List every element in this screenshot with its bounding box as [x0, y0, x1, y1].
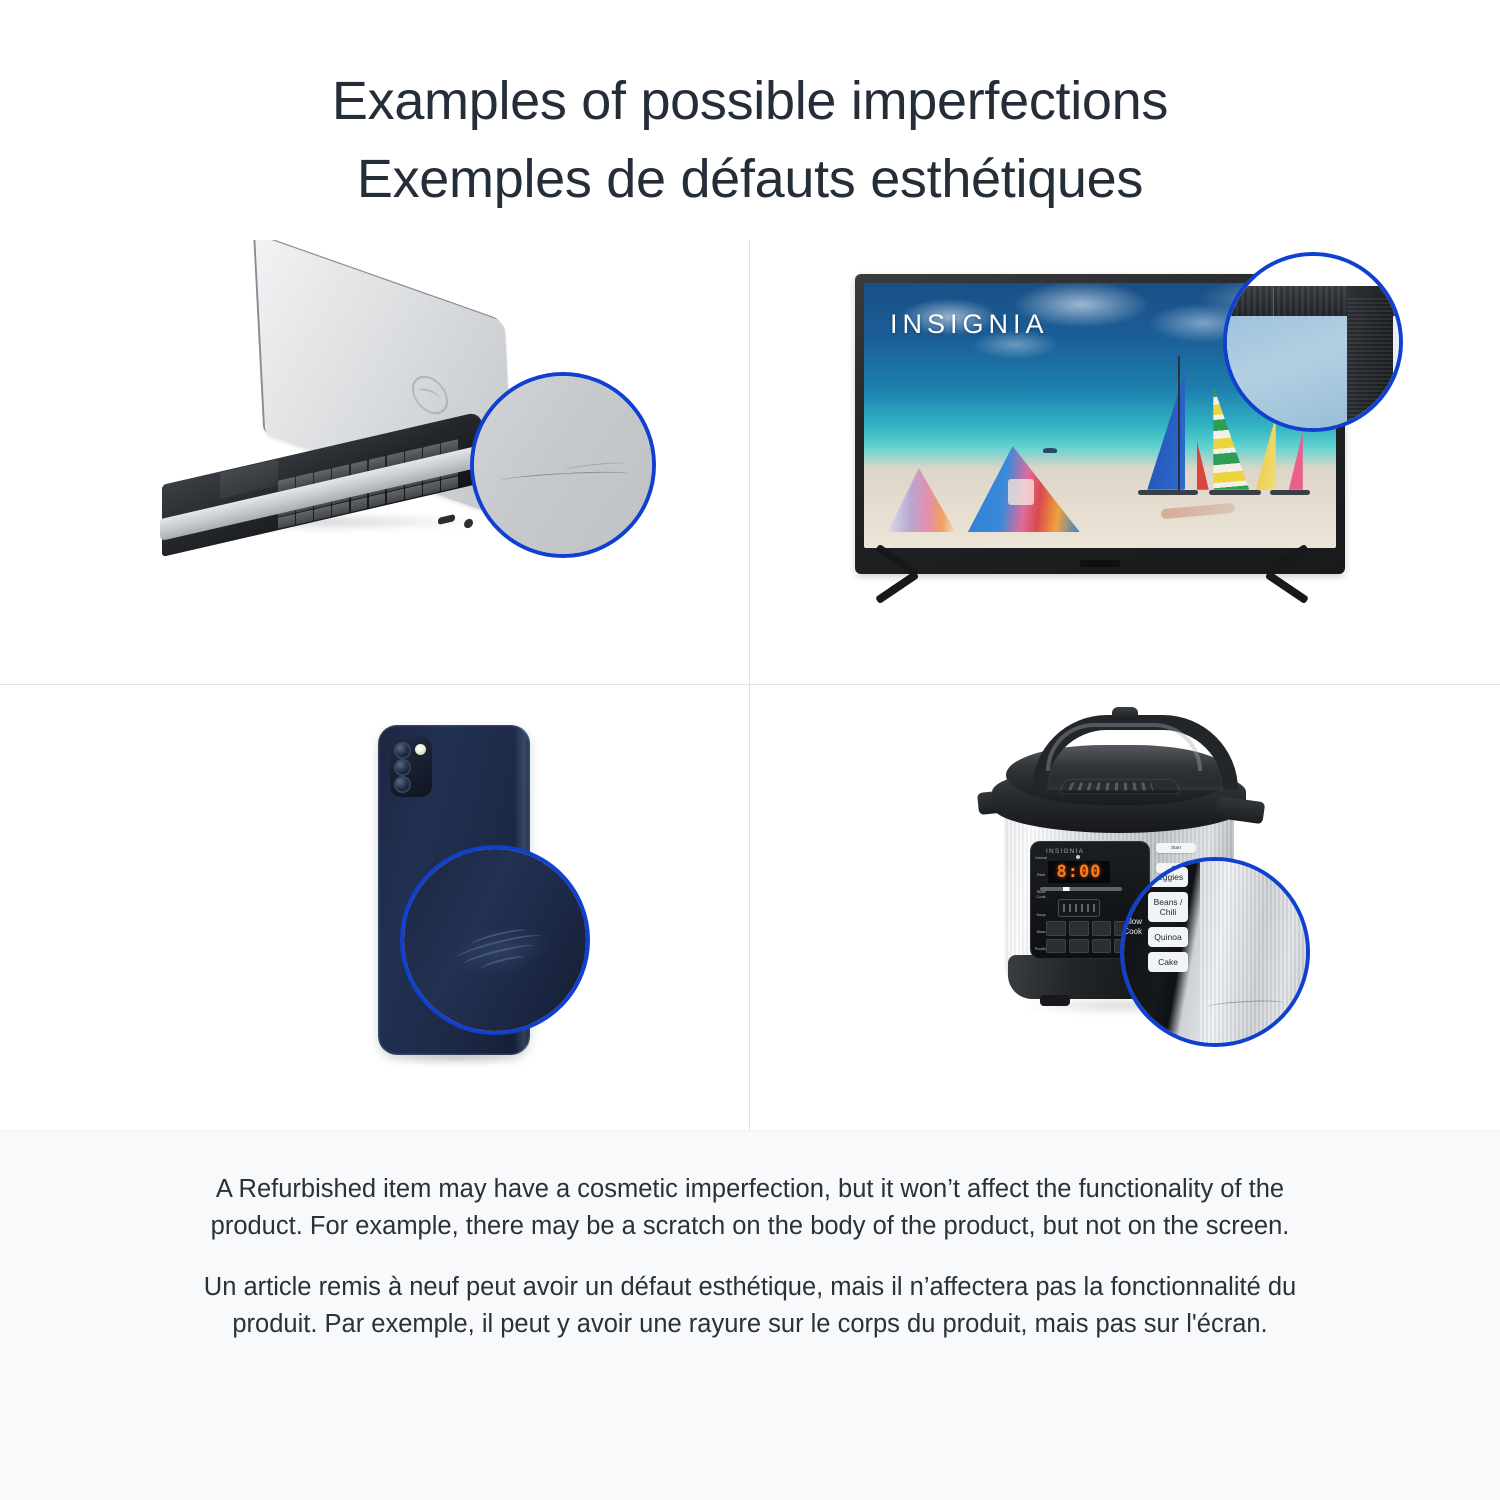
- cooker-pressure-valve: [1112, 707, 1138, 720]
- tv-screen-hull: [1209, 490, 1261, 495]
- magnified-bezel-texture: [1223, 286, 1365, 316]
- phone-camera-module: [390, 737, 432, 797]
- cooker-pressure-bar: [1040, 887, 1122, 891]
- magnifier-tv-scratch: [1223, 252, 1403, 432]
- pressure-cooker-illustration: INSIGNIA 8:00 Cereal Rice Slow Cook Soup…: [970, 703, 1310, 1063]
- television-illustration: INSIGNIA: [855, 252, 1365, 622]
- cooker-left-button[interactable]: Rice: [1034, 872, 1048, 877]
- quadrant-pressure-cooker: INSIGNIA 8:00 Cereal Rice Slow Cook Soup…: [750, 685, 1500, 1130]
- cooker-timer-display: 8:00: [1048, 861, 1110, 883]
- scratch-line: [500, 470, 630, 486]
- magnified-button: Quinoa: [1148, 927, 1188, 947]
- magnified-bezel-texture: [1347, 298, 1393, 432]
- cooker-indicator-light: [1076, 855, 1080, 859]
- magnifier-phone-surface: [404, 849, 586, 1031]
- product-examples-grid: INSIGNIA: [0, 240, 1500, 1130]
- tv-screen-hull: [1270, 490, 1310, 495]
- magnifier-phone-scuff: [400, 845, 590, 1035]
- footer-description: A Refurbished item may have a cosmetic i…: [0, 1130, 1500, 1500]
- laptop-illustration: [150, 270, 670, 650]
- magnifier-laptop-scratch: [470, 372, 656, 558]
- quadrant-laptop: [0, 240, 750, 685]
- tv-screen-beach-tent: [888, 468, 956, 532]
- cooker-right-button[interactable]: Start: [1156, 843, 1196, 853]
- quadrant-smartphone: [0, 685, 750, 1130]
- page-title-english: Examples of possible imperfections: [0, 62, 1500, 140]
- magnifier-laptop-surface: [474, 376, 652, 554]
- magnified-button: Beans / Chili: [1148, 892, 1188, 922]
- scratch-line: [1273, 288, 1274, 316]
- magnified-tv-screen: [1223, 314, 1359, 432]
- tv-screen-distant-boat: [1043, 448, 1057, 453]
- tv-screen-mast: [1178, 356, 1180, 490]
- cooker-left-button[interactable]: Cereal: [1034, 855, 1048, 860]
- camera-lens-icon: [394, 759, 411, 776]
- cooker-sub-display: [1058, 899, 1100, 917]
- magnified-steel-texture: [1200, 861, 1310, 1047]
- tv-screen-beach-tent: [968, 446, 1080, 532]
- page-title-french: Exemples de défauts esthétiques: [0, 140, 1500, 218]
- cooker-left-button[interactable]: Soup: [1034, 912, 1048, 917]
- magnified-button: Veggies: [1148, 867, 1188, 887]
- magnifier-cooker-surface: Delay Slow Cook Veggies Beans / Chili Qu…: [1124, 861, 1306, 1043]
- magnifier-cooker-scratch: Delay Slow Cook Veggies Beans / Chili Qu…: [1120, 857, 1310, 1047]
- camera-flash-icon: [415, 744, 426, 755]
- tv-logo-plate: [1080, 560, 1120, 567]
- cooker-handle-highlight: [1046, 723, 1202, 771]
- footer-paragraph-french: Un article remis à neuf peut avoir un dé…: [180, 1269, 1320, 1343]
- camera-lens-icon: [394, 742, 411, 759]
- tv-screen-sail: [1197, 440, 1209, 490]
- magnified-left-labels: Delay Slow Cook: [1120, 879, 1142, 1029]
- magnifier-tv-surface: [1227, 256, 1399, 428]
- magnified-button-column: Veggies Beans / Chili Quinoa Cake: [1148, 867, 1188, 1043]
- quadrant-television: INSIGNIA: [750, 240, 1500, 685]
- cooker-left-button[interactable]: Slow Cook: [1034, 889, 1048, 899]
- footer-paragraph-english: A Refurbished item may have a cosmetic i…: [180, 1171, 1320, 1245]
- tv-screen-beach-item: [1161, 503, 1236, 519]
- page-title: Examples of possible imperfections Exemp…: [0, 0, 1500, 218]
- magnified-left-label: Slow Cook: [1120, 917, 1142, 937]
- refurbished-imperfections-infographic: Examples of possible imperfections Exemp…: [0, 0, 1500, 1500]
- magnified-left-label: Delay: [1120, 879, 1142, 889]
- tv-screen-sail: [1289, 432, 1303, 490]
- tv-screen-hull: [1138, 490, 1198, 495]
- cooker-brand-label: INSIGNIA: [1046, 848, 1084, 855]
- magnified-button: Cake: [1148, 952, 1188, 972]
- smartphone-illustration: [360, 725, 640, 1085]
- camera-lens-icon: [394, 776, 411, 793]
- tv-screen-brand-logo: INSIGNIA: [890, 309, 1049, 340]
